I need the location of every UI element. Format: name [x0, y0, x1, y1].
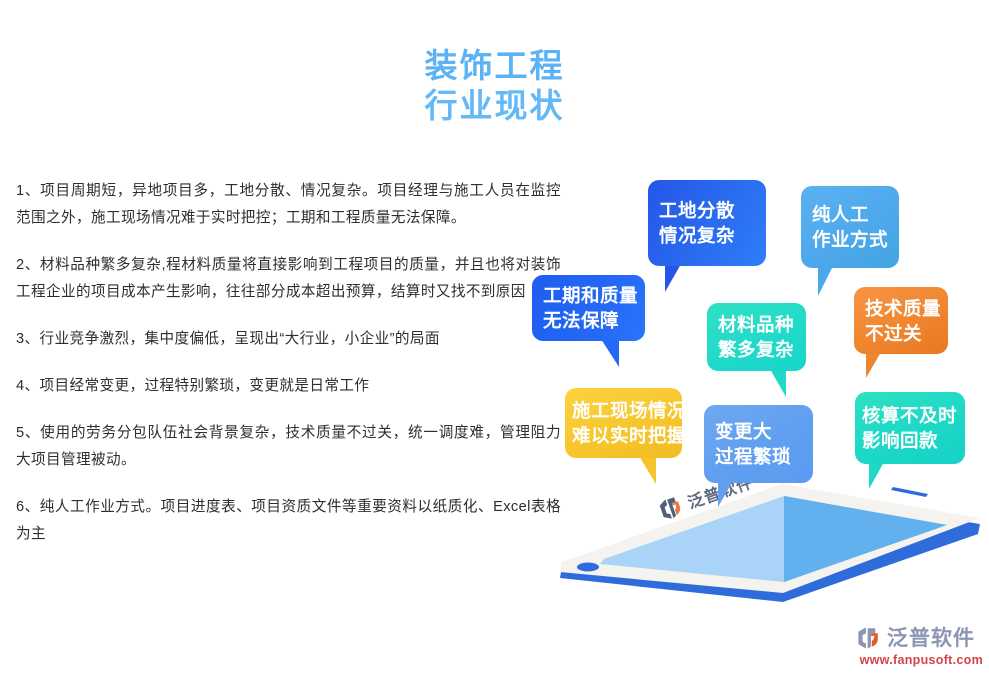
bubble-change-process-line1: 变更大	[715, 419, 803, 444]
bubble-change-process[interactable]: 变更大 过程繁琐	[704, 405, 813, 483]
page-title: 装饰工程 行业现状	[0, 46, 989, 127]
bubble-tech-quality-line1: 技术质量	[865, 296, 938, 321]
bubble-accounting-delay-line1: 核算不及时	[862, 403, 959, 428]
bubble-schedule-quality-line2: 无法保障	[543, 308, 635, 333]
status-paragraph-3: 3、行业竞争激烈，集中度偏低，呈现出“大行业，小企业”的局面	[16, 326, 561, 353]
status-paragraph-6: 6、纯人工作业方式。项目进度表、项目资质文件等重要资料以纸质化、Excel表格为…	[16, 494, 561, 548]
status-paragraph-1: 1、项目周期短，异地项目多，工地分散、情况复杂。项目经理与施工人员在监控范围之外…	[16, 178, 561, 232]
bubble-tail-manual-mode	[818, 266, 833, 296]
bubble-accounting-delay[interactable]: 核算不及时 影响回款	[855, 392, 965, 464]
brand-logo-row: 泛普软件	[855, 622, 983, 652]
title-line-1: 装饰工程	[0, 46, 989, 86]
bubble-tail-change-process	[718, 481, 733, 507]
bubble-change-process-line2: 过程繁琐	[715, 444, 803, 469]
tablet-speaker-slot	[891, 487, 928, 497]
bubble-tech-quality[interactable]: 技术质量 不过关	[854, 287, 948, 354]
tablet-home-button	[577, 563, 599, 572]
bubble-schedule-quality[interactable]: 工期和质量 无法保障	[532, 275, 645, 341]
status-paragraph-2: 2、材料品种繁多复杂,程材料质量将直接影响到工程项目的质量，并且也将对装饰工程企…	[16, 252, 561, 306]
brand-name: 泛普软件	[887, 622, 975, 652]
fanpu-brand-mark-icon	[855, 624, 882, 651]
brand-url: www.fanpusoft.com	[855, 653, 983, 667]
bubble-site-realtime-line1: 施工现场情况	[572, 398, 676, 423]
bubble-material-variety-line2: 繁多复杂	[718, 337, 796, 362]
bubble-site-scatter[interactable]: 工地分散 情况复杂	[648, 180, 766, 266]
bubble-site-scatter-line2: 情况复杂	[659, 223, 756, 248]
infographic-canvas: 装饰工程 行业现状 1、项目周期短，异地项目多，工地分散、情况复杂。项目经理与施…	[0, 0, 989, 678]
title-line-2: 行业现状	[0, 86, 989, 126]
bubble-tail-site-realtime	[639, 456, 656, 484]
bubble-schedule-quality-line1: 工期和质量	[543, 283, 635, 308]
brand-logo: 泛普软件 www.fanpusoft.com	[855, 622, 983, 667]
status-paragraph-4: 4、项目经常变更，过程特别繁琐，变更就是日常工作	[16, 373, 561, 400]
bubble-manual-mode-line2: 作业方式	[812, 227, 889, 252]
bubble-material-variety[interactable]: 材料品种 繁多复杂	[707, 303, 806, 371]
bubble-site-realtime[interactable]: 施工现场情况 难以实时把握	[565, 388, 682, 458]
bubble-tech-quality-line2: 不过关	[865, 321, 938, 346]
bubble-site-scatter-line1: 工地分散	[659, 198, 756, 223]
bubble-tail-material-variety	[770, 369, 786, 397]
status-paragraph-5: 5、使用的劳务分包队伍社会背景复杂，技术质量不过关，统一调度难，管理阻力大项目管…	[16, 420, 561, 474]
bubble-accounting-delay-line2: 影响回款	[862, 428, 959, 453]
bubble-tail-accounting-delay	[869, 462, 884, 489]
bubble-tail-tech-quality	[866, 352, 881, 378]
bubble-tail-schedule-quality	[601, 339, 619, 367]
bubble-manual-mode-line1: 纯人工	[812, 202, 889, 227]
bubble-tail-site-scatter	[665, 264, 681, 292]
industry-status-text-list: 1、项目周期短，异地项目多，工地分散、情况复杂。项目经理与施工人员在监控范围之外…	[16, 178, 561, 548]
bubble-manual-mode[interactable]: 纯人工 作业方式	[801, 186, 899, 268]
bubble-site-realtime-line2: 难以实时把握	[572, 423, 676, 448]
bubble-material-variety-line1: 材料品种	[718, 312, 796, 337]
